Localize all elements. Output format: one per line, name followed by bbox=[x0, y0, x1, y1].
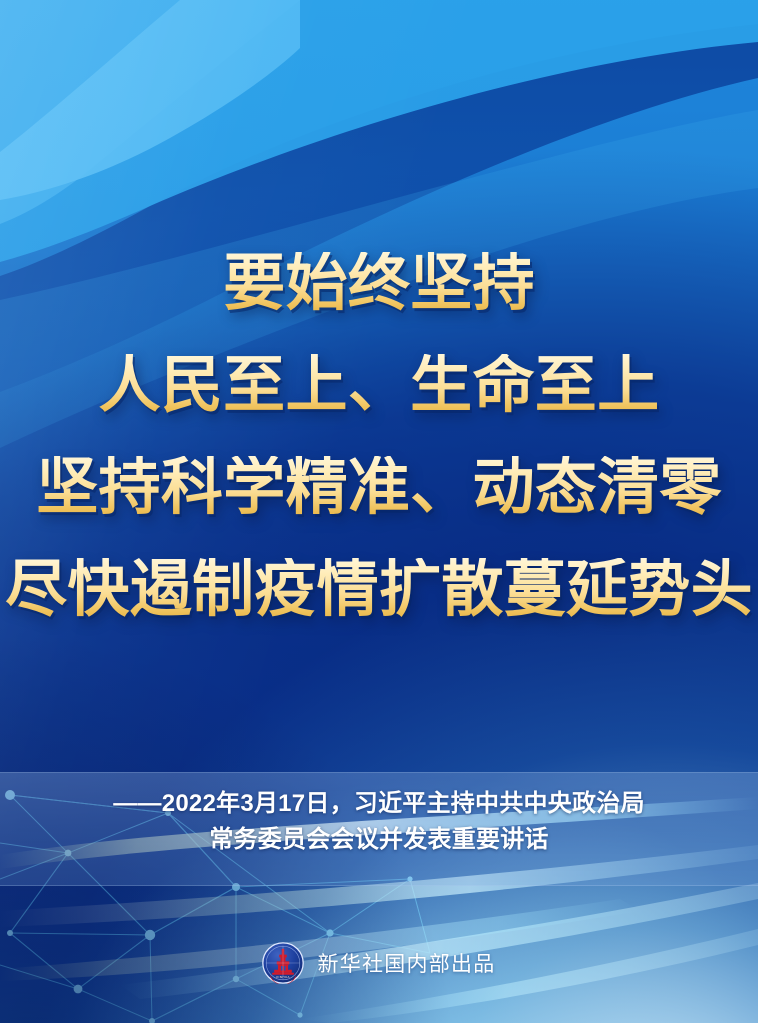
caption-line-1: ——2022年3月17日，习近平主持中共中央政治局 bbox=[0, 786, 758, 822]
xinhua-news-agency-logo-icon: XINHUA bbox=[262, 942, 304, 984]
poster-content: 要始终坚持 人民至上、生命至上 坚持科学精准、动态清零 尽快遏制疫情扩散蔓延势头… bbox=[0, 0, 758, 1023]
footer-label: 新华社国内部出品 bbox=[317, 948, 495, 978]
headline-line-1: 要始终坚持 bbox=[0, 252, 758, 314]
poster-canvas: 要始终坚持 人民至上、生命至上 坚持科学精准、动态清零 尽快遏制疫情扩散蔓延势头… bbox=[0, 0, 758, 1023]
footer: XINHUA 新华社国内部出品 bbox=[0, 942, 758, 984]
headline-line-2: 人民至上、生命至上 bbox=[0, 354, 758, 416]
headline-line-4: 尽快遏制疫情扩散蔓延势头 bbox=[0, 558, 758, 620]
caption-line-2: 常务委员会会议并发表重要讲话 bbox=[0, 822, 758, 858]
headline-line-3: 坚持科学精准、动态清零 bbox=[0, 456, 758, 518]
caption: ——2022年3月17日，习近平主持中共中央政治局 常务委员会会议并发表重要讲话 bbox=[0, 786, 758, 858]
headline: 要始终坚持 人民至上、生命至上 坚持科学精准、动态清零 尽快遏制疫情扩散蔓延势头 bbox=[0, 252, 758, 620]
